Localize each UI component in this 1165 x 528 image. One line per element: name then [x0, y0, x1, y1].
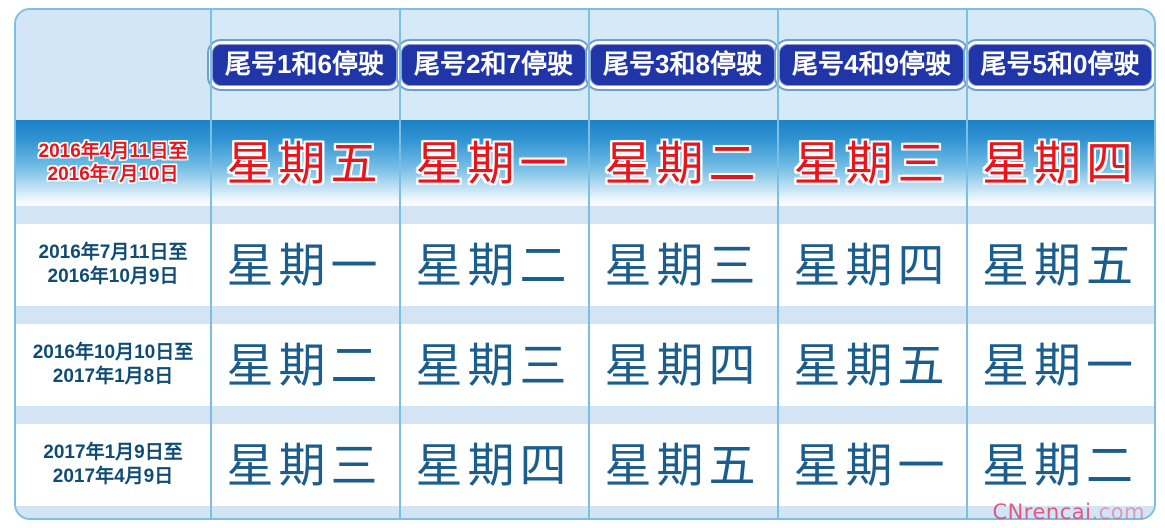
weekday-value: 星期五: [794, 342, 950, 389]
site-watermark: CNrencai.com: [992, 500, 1145, 524]
weekday-value: 星期二: [416, 242, 572, 289]
weekday-value: 星期一: [794, 442, 950, 489]
weekday-value: 星期三: [416, 342, 572, 389]
table-header-row: 尾号1和6停驶 尾号2和7停驶 尾号3和8停驶 尾号4和9停驶 尾号5和0停驶: [16, 10, 1154, 120]
header-cell-tail-1-6: 尾号1和6停驶: [210, 10, 399, 120]
day-cell: 星期一: [777, 424, 966, 506]
weekday-value: 星期三: [605, 242, 761, 289]
table-row[interactable]: 2016年10月10日至 2017年1月8日 星期二 星期三 星期四 星期五 星…: [16, 324, 1154, 406]
day-cell: 星期一: [966, 324, 1154, 406]
period-line-1: 2016年7月11日至: [39, 241, 188, 265]
header-cell-tail-4-9: 尾号4和9停驶: [777, 10, 966, 120]
weekday-value: 星期一: [982, 342, 1138, 389]
weekday-value: 星期二: [982, 442, 1138, 489]
weekday-value: 星期二: [605, 140, 761, 187]
day-cell: 星期三: [777, 120, 966, 206]
day-cell: 星期一: [399, 120, 588, 206]
table-row[interactable]: 2016年4月11日至 2016年7月10日 星期五 星期一 星期二 星期三 星…: [16, 120, 1154, 206]
day-cell: 星期三: [588, 224, 777, 306]
weekday-value: 星期五: [605, 442, 761, 489]
restriction-schedule-table: 尾号1和6停驶 尾号2和7停驶 尾号3和8停驶 尾号4和9停驶 尾号5和0停驶 …: [14, 8, 1156, 520]
weekday-value: 星期四: [794, 242, 950, 289]
header-cell-period: [16, 10, 210, 120]
day-cell: 星期一: [210, 224, 399, 306]
table-row[interactable]: 2017年1月9日至 2017年4月9日 星期三 星期四 星期五 星期一 星期二: [16, 424, 1154, 506]
weekday-value: 星期四: [416, 442, 572, 489]
day-cell: 星期五: [966, 224, 1154, 306]
weekday-value: 星期五: [982, 242, 1138, 289]
day-cell: 星期五: [777, 324, 966, 406]
period-line-2: 2016年7月10日: [48, 163, 179, 186]
tail-number-badge-5-0[interactable]: 尾号5和0停驶: [965, 41, 1156, 89]
tail-number-badge-3-8[interactable]: 尾号3和8停驶: [587, 41, 778, 89]
weekday-value: 星期二: [227, 342, 383, 389]
watermark-name: CNrencai: [992, 500, 1091, 524]
row-separator-band: [16, 206, 1154, 224]
tail-number-badge-4-9[interactable]: 尾号4和9停驶: [776, 41, 967, 89]
weekday-value: 星期一: [416, 140, 572, 187]
driving-restriction-table-page: 尾号1和6停驶 尾号2和7停驶 尾号3和8停驶 尾号4和9停驶 尾号5和0停驶 …: [0, 0, 1165, 528]
day-cell: 星期二: [399, 224, 588, 306]
period-line-1: 2017年1月9日至: [43, 441, 182, 465]
table-body: 2016年4月11日至 2016年7月10日 星期五 星期一 星期二 星期三 星…: [16, 120, 1154, 518]
period-cell: 2017年1月9日至 2017年4月9日: [16, 424, 210, 506]
row-separator-band: [16, 306, 1154, 324]
period-line-1: 2016年4月11日至: [39, 140, 188, 163]
period-cell: 2016年4月11日至 2016年7月10日: [16, 120, 210, 206]
header-cell-tail-5-0: 尾号5和0停驶: [966, 10, 1154, 120]
period-line-2: 2017年4月9日: [53, 465, 173, 489]
weekday-value: 星期三: [794, 140, 950, 187]
day-cell: 星期三: [210, 424, 399, 506]
day-cell: 星期四: [399, 424, 588, 506]
day-cell: 星期四: [966, 120, 1154, 206]
day-cell: 星期四: [588, 324, 777, 406]
day-cell: 星期四: [777, 224, 966, 306]
weekday-value: 星期三: [227, 442, 383, 489]
period-cell: 2016年10月10日至 2017年1月8日: [16, 324, 210, 406]
weekday-value: 星期一: [227, 242, 383, 289]
period-line-2: 2017年1月8日: [53, 365, 173, 389]
day-cell: 星期二: [210, 324, 399, 406]
tail-number-badge-1-6[interactable]: 尾号1和6停驶: [209, 41, 400, 89]
header-cell-tail-3-8: 尾号3和8停驶: [588, 10, 777, 120]
row-separator-band: [16, 406, 1154, 424]
bottom-band: [16, 506, 1154, 520]
tail-number-badge-2-7[interactable]: 尾号2和7停驶: [398, 41, 589, 89]
weekday-value: 星期四: [982, 140, 1138, 187]
day-cell: 星期二: [588, 120, 777, 206]
header-cell-tail-2-7: 尾号2和7停驶: [399, 10, 588, 120]
day-cell: 星期三: [399, 324, 588, 406]
period-cell: 2016年7月11日至 2016年10月9日: [16, 224, 210, 306]
period-line-1: 2016年10月10日至: [33, 341, 194, 365]
day-cell: 星期二: [966, 424, 1154, 506]
weekday-value: 星期四: [605, 342, 761, 389]
period-line-2: 2016年10月9日: [48, 265, 179, 289]
table-row[interactable]: 2016年7月11日至 2016年10月9日 星期一 星期二 星期三 星期四 星…: [16, 224, 1154, 306]
day-cell: 星期五: [588, 424, 777, 506]
weekday-value: 星期五: [227, 140, 383, 187]
day-cell: 星期五: [210, 120, 399, 206]
watermark-tld: .com: [1091, 500, 1145, 524]
